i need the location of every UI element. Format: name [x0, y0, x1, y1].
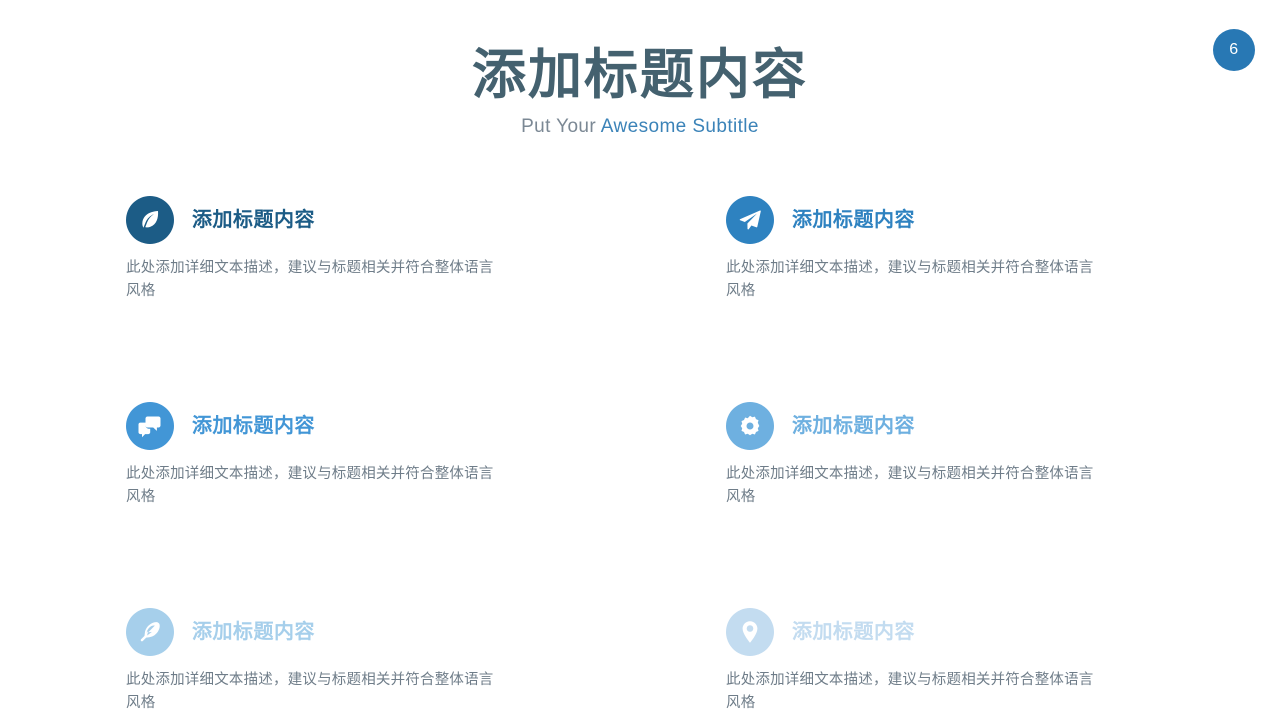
- feature-title: 添加标题内容: [792, 620, 915, 644]
- feature-title: 添加标题内容: [792, 414, 915, 438]
- feature-header: 添加标题内容: [726, 402, 1206, 450]
- feature-item: 添加标题内容 此处添加详细文本描述，建议与标题相关并符合整体语言风格: [126, 196, 606, 303]
- feature-header: 添加标题内容: [726, 608, 1206, 656]
- feature-body: 此处添加详细文本描述，建议与标题相关并符合整体语言风格: [726, 463, 1106, 509]
- feature-title: 添加标题内容: [792, 208, 915, 232]
- feature-header: 添加标题内容: [126, 402, 606, 450]
- feature-icon-circle: [126, 402, 174, 450]
- feature-icon-circle: [126, 196, 174, 244]
- feature-header: 添加标题内容: [126, 608, 606, 656]
- page-subtitle: Put Your Awesome Subtitle: [0, 115, 1280, 139]
- slide-header: 添加标题内容 Put Your Awesome Subtitle: [0, 44, 1280, 139]
- subtitle-prefix: Put Your: [521, 116, 601, 137]
- feature-item: 添加标题内容 此处添加详细文本描述，建议与标题相关并符合整体语言风格: [126, 402, 606, 509]
- leaf-icon: [137, 207, 163, 233]
- feature-title: 添加标题内容: [192, 414, 315, 438]
- subtitle-accent: Awesome Subtitle: [601, 116, 759, 137]
- feature-title: 添加标题内容: [192, 208, 315, 232]
- feature-body: 此处添加详细文本描述，建议与标题相关并符合整体语言风格: [126, 257, 506, 303]
- chat-bubbles-icon: [137, 413, 163, 439]
- feature-icon-circle: [726, 402, 774, 450]
- feature-body: 此处添加详细文本描述，建议与标题相关并符合整体语言风格: [726, 257, 1106, 303]
- gear-icon: [738, 414, 762, 438]
- feature-grid: 添加标题内容 此处添加详细文本描述，建议与标题相关并符合整体语言风格 添加标题内…: [126, 196, 1154, 715]
- feature-title: 添加标题内容: [192, 620, 315, 644]
- feature-item: 添加标题内容 此处添加详细文本描述，建议与标题相关并符合整体语言风格: [126, 608, 606, 715]
- feature-icon-circle: [726, 196, 774, 244]
- page-title: 添加标题内容: [0, 44, 1280, 106]
- feather-icon: [137, 619, 163, 645]
- feature-icon-circle: [126, 608, 174, 656]
- feature-body: 此处添加详细文本描述，建议与标题相关并符合整体语言风格: [726, 669, 1106, 715]
- feature-body: 此处添加详细文本描述，建议与标题相关并符合整体语言风格: [126, 463, 506, 509]
- feature-icon-circle: [726, 608, 774, 656]
- map-pin-icon: [737, 619, 763, 645]
- feature-item: 添加标题内容 此处添加详细文本描述，建议与标题相关并符合整体语言风格: [726, 196, 1206, 303]
- feature-header: 添加标题内容: [726, 196, 1206, 244]
- feature-item: 添加标题内容 此处添加详细文本描述，建议与标题相关并符合整体语言风格: [726, 608, 1206, 715]
- feature-header: 添加标题内容: [126, 196, 606, 244]
- feature-body: 此处添加详细文本描述，建议与标题相关并符合整体语言风格: [126, 669, 506, 715]
- send-icon: [737, 207, 763, 233]
- feature-item: 添加标题内容 此处添加详细文本描述，建议与标题相关并符合整体语言风格: [726, 402, 1206, 509]
